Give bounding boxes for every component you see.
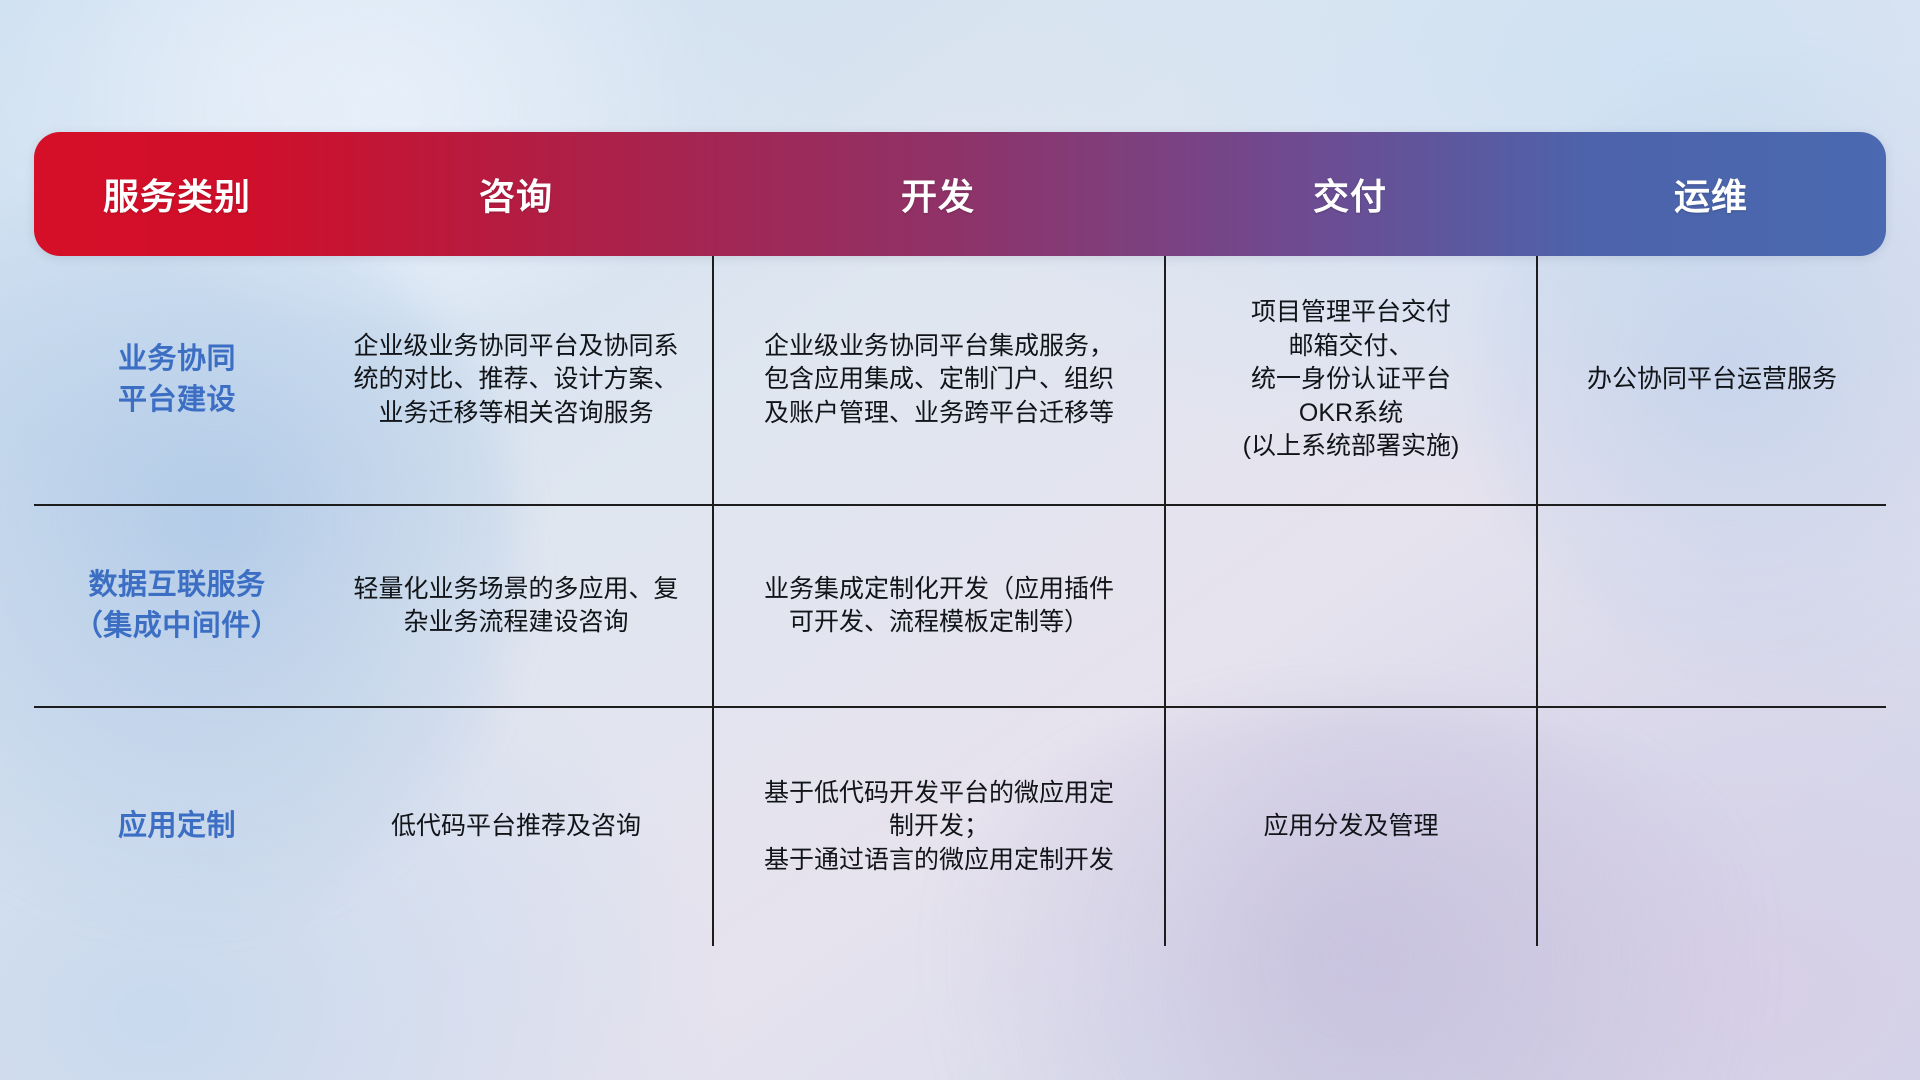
table-body: 业务协同 平台建设 企业级业务协同平台及协同系 统的对比、推荐、设计方案、 业务… — [34, 256, 1886, 946]
cell-consulting: 轻量化业务场景的多应用、复 杂业务流程建设咨询 — [320, 506, 712, 706]
cell-operations — [1536, 506, 1886, 706]
table-row: 业务协同 平台建设 企业级业务协同平台及协同系 统的对比、推荐、设计方案、 业务… — [34, 256, 1886, 506]
row-category-label: 应用定制 — [34, 708, 320, 946]
cell-operations — [1536, 708, 1886, 946]
cell-development: 企业级业务协同平台集成服务， 包含应用集成、定制门户、组织 及账户管理、业务跨平… — [712, 256, 1164, 504]
cell-development: 业务集成定制化开发（应用插件 可开发、流程模板定制等） — [712, 506, 1164, 706]
cell-delivery: 应用分发及管理 — [1164, 708, 1536, 946]
row-category-label: 业务协同 平台建设 — [34, 256, 320, 504]
service-matrix-table: 服务类别 咨询 开发 交付 运维 业务协同 平台建设 企业级业务协同平台及协同系… — [34, 132, 1886, 952]
table-row: 数据互联服务 （集成中间件） 轻量化业务场景的多应用、复 杂业务流程建设咨询 业… — [34, 506, 1886, 708]
cell-delivery: 项目管理平台交付 邮箱交付、 统一身份认证平台 OKR系统 (以上系统部署实施) — [1164, 256, 1536, 504]
column-header-consulting: 咨询 — [320, 132, 712, 256]
cell-delivery — [1164, 506, 1536, 706]
row-category-label: 数据互联服务 （集成中间件） — [34, 506, 320, 706]
cell-consulting: 企业级业务协同平台及协同系 统的对比、推荐、设计方案、 业务迁移等相关咨询服务 — [320, 256, 712, 504]
column-header-category: 服务类别 — [34, 132, 320, 256]
table-row: 应用定制 低代码平台推荐及咨询 基于低代码开发平台的微应用定 制开发； 基于通过… — [34, 708, 1886, 946]
cell-development: 基于低代码开发平台的微应用定 制开发； 基于通过语言的微应用定制开发 — [712, 708, 1164, 946]
cell-operations: 办公协同平台运营服务 — [1536, 256, 1886, 504]
table-header-row: 服务类别 咨询 开发 交付 运维 — [34, 132, 1886, 256]
column-header-delivery: 交付 — [1164, 132, 1536, 256]
column-header-development: 开发 — [712, 132, 1164, 256]
column-header-operations: 运维 — [1536, 132, 1886, 256]
cell-consulting: 低代码平台推荐及咨询 — [320, 708, 712, 946]
